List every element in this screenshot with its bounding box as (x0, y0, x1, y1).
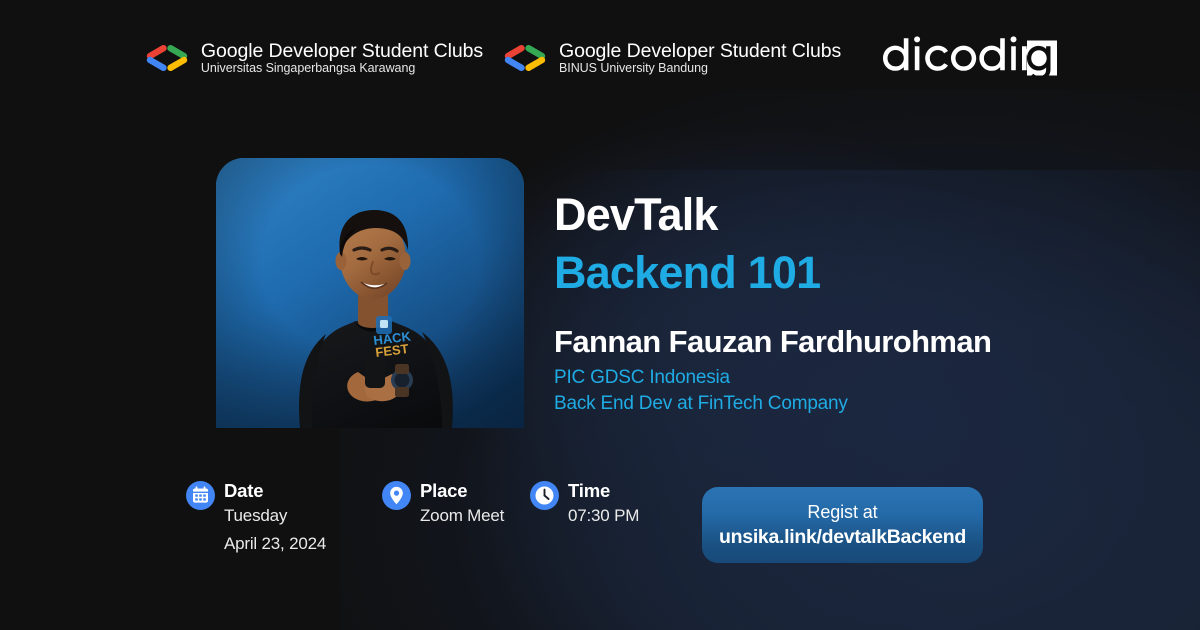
info-item-time: Time 07:30 PM (530, 480, 680, 530)
event-poster: Google Developer Student Clubs Universit… (0, 0, 1200, 630)
gdsc-logo-unsika: Google Developer Student Clubs Universit… (143, 41, 483, 76)
info-label-place: Place (420, 480, 504, 502)
header-logo-bar: Google Developer Student Clubs Universit… (0, 36, 1200, 80)
info-label-time: Time (568, 480, 639, 502)
info-value-time: 07:30 PM (568, 502, 639, 530)
clock-icon (530, 481, 559, 510)
dicoding-logo (883, 36, 1057, 80)
info-body-date: Date Tuesday April 23, 2024 (224, 480, 326, 557)
gdsc-subtitle: Universitas Singaperbangsa Karawang (201, 62, 483, 76)
gdsc-chevron-logo-icon (501, 43, 549, 73)
speaker-role: PIC GDSC Indonesia Back End Dev at FinTe… (554, 365, 991, 416)
event-info-row: Date Tuesday April 23, 2024 Place Zoom M… (186, 480, 680, 557)
info-value-date-line2: April 23, 2024 (224, 530, 326, 558)
info-item-place: Place Zoom Meet (382, 480, 530, 530)
location-pin-icon (382, 481, 411, 510)
info-body-time: Time 07:30 PM (568, 480, 639, 530)
speaker-role-line1: PIC GDSC Indonesia (554, 365, 991, 390)
info-body-place: Place Zoom Meet (420, 480, 504, 530)
gdsc-chevron-logo-icon (143, 43, 191, 73)
info-value-place: Zoom Meet (420, 502, 504, 530)
register-button-label: Regist at (807, 501, 877, 524)
info-item-date: Date Tuesday April 23, 2024 (186, 480, 382, 557)
speaker-name: Fannan Fauzan Fardhurohman (554, 326, 991, 359)
info-label-date: Date (224, 480, 326, 502)
speaker-role-line2: Back End Dev at FinTech Company (554, 391, 991, 416)
calendar-icon (186, 481, 215, 510)
register-button[interactable]: Regist at unsika.link/devtalkBackend (702, 487, 983, 563)
gdsc-logo-text-unsika: Google Developer Student Clubs Universit… (201, 41, 483, 76)
event-title-line1: DevTalk (554, 192, 991, 238)
gdsc-title: Google Developer Student Clubs (559, 41, 841, 62)
gdsc-logo-text-binus: Google Developer Student Clubs BINUS Uni… (559, 41, 841, 76)
gdsc-logo-binus: Google Developer Student Clubs BINUS Uni… (501, 41, 841, 76)
gdsc-title: Google Developer Student Clubs (201, 41, 483, 62)
event-text-block: DevTalk Backend 101 Fannan Fauzan Fardhu… (554, 192, 991, 416)
register-button-link: unsika.link/devtalkBackend (719, 525, 966, 549)
gdsc-subtitle: BINUS University Bandung (559, 62, 841, 76)
event-title-line2: Backend 101 (554, 250, 991, 296)
speaker-photo: HACK FEST (216, 158, 524, 428)
info-value-date-line1: Tuesday (224, 502, 326, 530)
